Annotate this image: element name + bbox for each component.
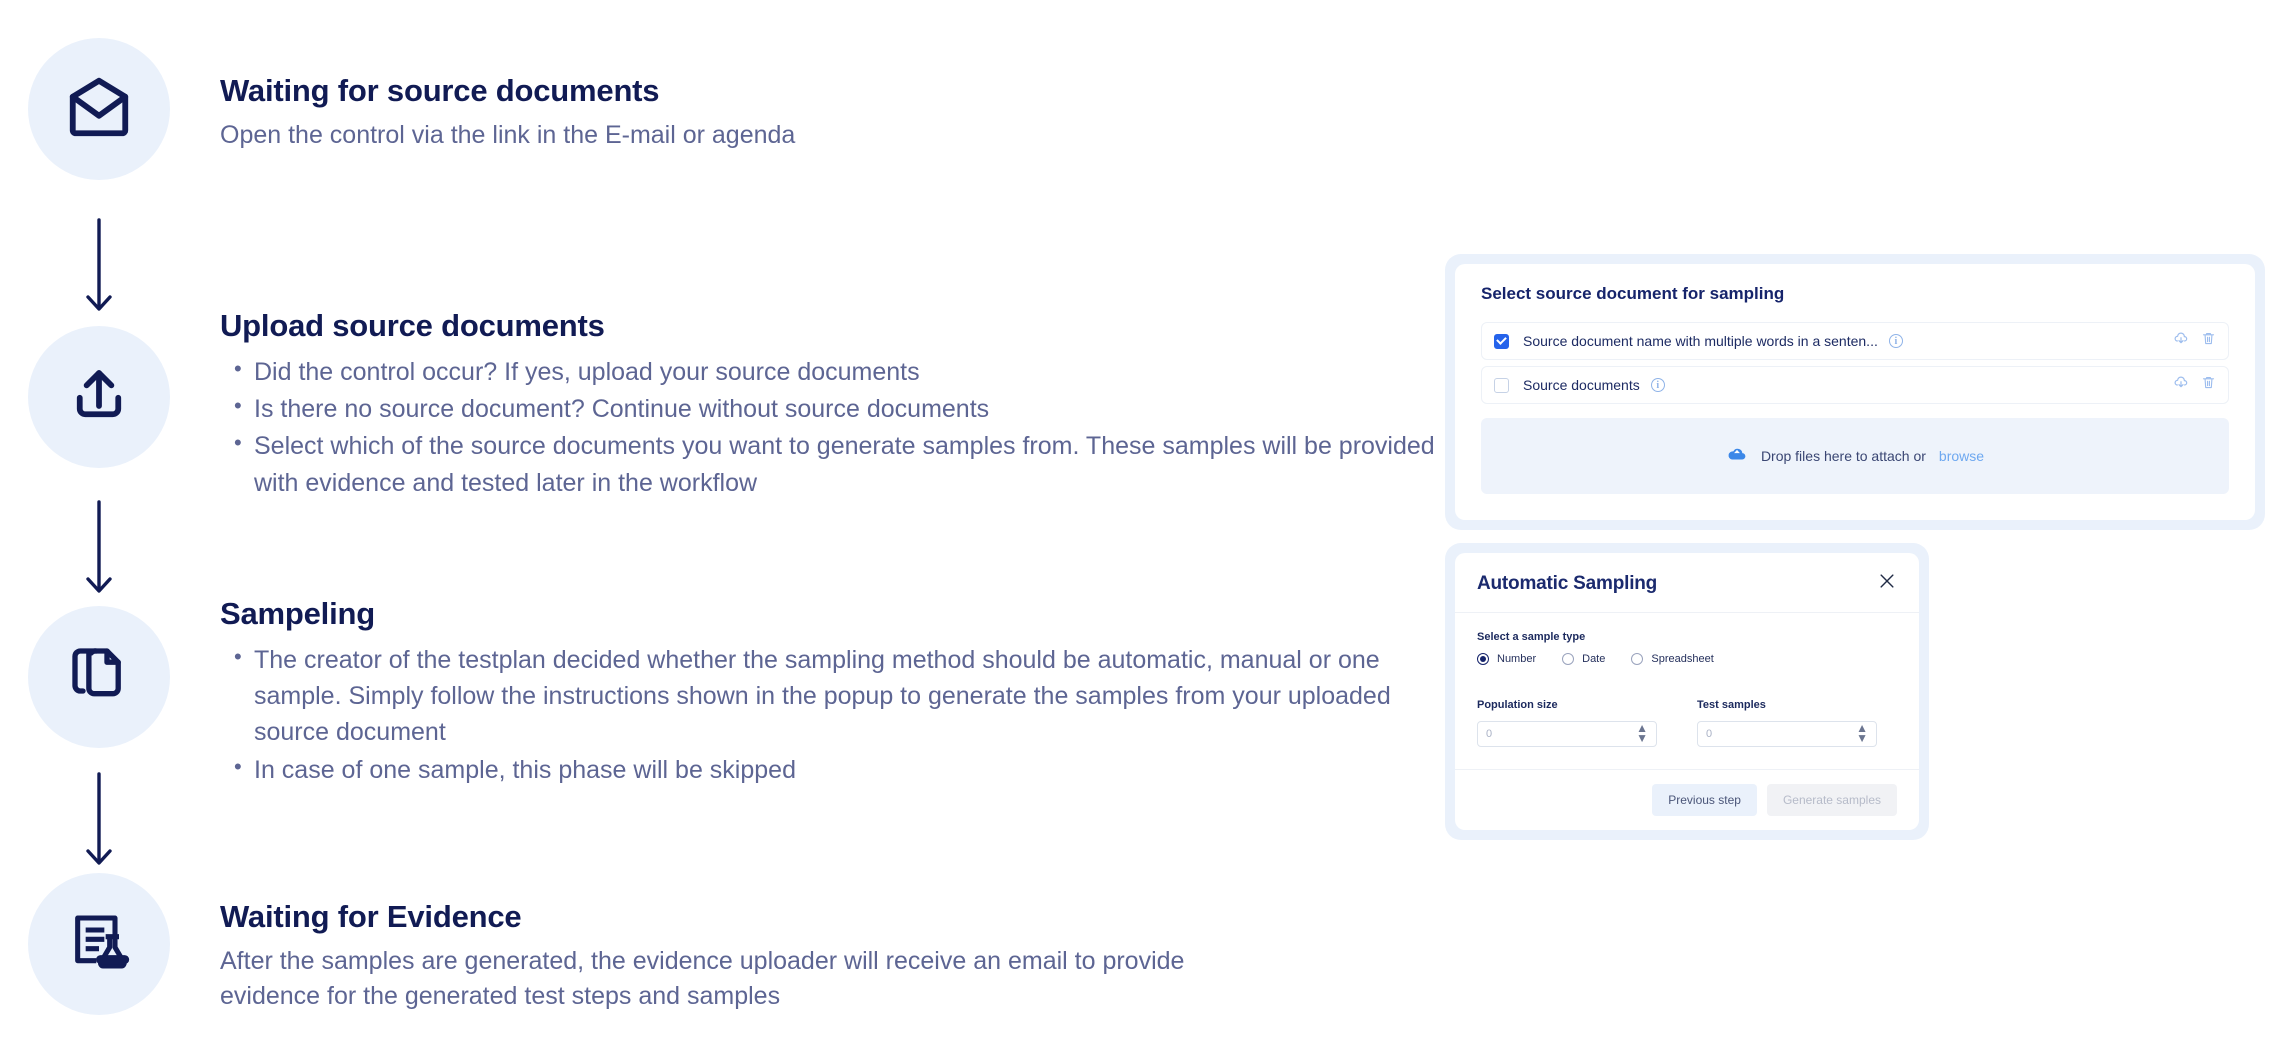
population-size-stepper[interactable]: 0 ▲▼ bbox=[1477, 721, 1657, 747]
card-outer-frame: Select source document for sampling Sour… bbox=[1445, 254, 2265, 530]
document-name: Source documents bbox=[1523, 377, 1640, 393]
info-icon[interactable]: i bbox=[1889, 334, 1903, 348]
cloud-upload-icon bbox=[1726, 443, 1748, 470]
step-3-body: Sampeling The creator of the testplan de… bbox=[220, 595, 1440, 789]
step-2-icon-circle bbox=[28, 326, 170, 468]
list-item: Did the control occur? If yes, upload yo… bbox=[220, 354, 1440, 390]
open-envelope-icon bbox=[64, 72, 134, 147]
radio-dot-selected bbox=[1477, 653, 1489, 665]
population-size-field: Population size 0 ▲▼ bbox=[1477, 699, 1657, 747]
download-icon[interactable] bbox=[2173, 375, 2189, 396]
workflow-timeline: Waiting for source documents Open the co… bbox=[0, 0, 1440, 1054]
list-item: Is there no source document? Continue wi… bbox=[220, 391, 1440, 427]
table-row[interactable]: Source documents i bbox=[1481, 366, 2229, 404]
browse-link[interactable]: browse bbox=[1939, 448, 1984, 464]
test-samples-value: 0 bbox=[1706, 728, 1712, 740]
card-inner: Select source document for sampling Sour… bbox=[1455, 264, 2255, 520]
test-samples-label: Test samples bbox=[1697, 699, 1877, 711]
radio-label: Number bbox=[1497, 653, 1536, 665]
file-dropzone[interactable]: Drop files here to attach or browse bbox=[1481, 418, 2229, 494]
sample-type-radio-group: Number Date Spreadsheet bbox=[1477, 653, 1897, 665]
info-icon[interactable]: i bbox=[1651, 378, 1665, 392]
population-size-label: Population size bbox=[1477, 699, 1657, 711]
step-1-icon-circle bbox=[28, 38, 170, 180]
dialog-body: Select a sample type Number Date Spre bbox=[1455, 613, 1919, 770]
dialog-outer-frame: Automatic Sampling Select a sample type … bbox=[1445, 543, 1929, 840]
delete-icon[interactable] bbox=[2201, 375, 2216, 395]
row-checkbox-unchecked[interactable] bbox=[1494, 378, 1509, 393]
step-3-icon-circle bbox=[28, 606, 170, 748]
row-checkbox-checked[interactable] bbox=[1494, 334, 1509, 349]
step-3-title: Sampeling bbox=[220, 595, 1440, 634]
dropzone-text: Drop files here to attach or bbox=[1761, 448, 1926, 464]
step-2-bullet-list: Did the control occur? If yes, upload yo… bbox=[220, 354, 1440, 501]
dialog-header: Automatic Sampling bbox=[1455, 553, 1919, 613]
list-item: Select which of the source documents you… bbox=[220, 428, 1440, 501]
step-1-subtitle: Open the control via the link in the E-m… bbox=[220, 118, 795, 154]
connector-arrow-1 bbox=[82, 218, 116, 314]
stepper-arrows-icon[interactable]: ▲▼ bbox=[1636, 724, 1648, 743]
radio-dot bbox=[1631, 653, 1643, 665]
row-actions bbox=[2173, 375, 2216, 396]
document-flask-icon bbox=[67, 910, 131, 979]
connector-arrow-2 bbox=[82, 500, 116, 596]
radio-option-date[interactable]: Date bbox=[1562, 653, 1605, 665]
connector-arrow-3 bbox=[82, 772, 116, 868]
automatic-sampling-dialog: Automatic Sampling Select a sample type … bbox=[1445, 543, 1929, 840]
step-4-body: Waiting for Evidence After the samples a… bbox=[220, 898, 1280, 1015]
row-actions bbox=[2173, 331, 2216, 352]
infographic-page: Waiting for source documents Open the co… bbox=[0, 0, 2290, 1054]
previous-step-button[interactable]: Previous step bbox=[1652, 784, 1757, 816]
step-1-title: Waiting for source documents bbox=[220, 72, 795, 111]
list-item: In case of one sample, this phase will b… bbox=[220, 752, 1440, 788]
table-row[interactable]: Source document name with multiple words… bbox=[1481, 322, 2229, 360]
test-samples-field: Test samples 0 ▲▼ bbox=[1697, 699, 1877, 747]
dialog-inner: Automatic Sampling Select a sample type … bbox=[1455, 553, 1919, 830]
delete-icon[interactable] bbox=[2201, 331, 2216, 351]
step-4-icon-circle bbox=[28, 873, 170, 1015]
upload-icon bbox=[66, 362, 132, 433]
documents-copy-icon bbox=[67, 643, 131, 712]
radio-option-spreadsheet[interactable]: Spreadsheet bbox=[1631, 653, 1713, 665]
step-3-bullet-list: The creator of the testplan decided whet… bbox=[220, 642, 1440, 788]
step-4-title: Waiting for Evidence bbox=[220, 898, 1280, 937]
step-1-body: Waiting for source documents Open the co… bbox=[220, 72, 795, 153]
generate-samples-button[interactable]: Generate samples bbox=[1767, 784, 1897, 816]
close-icon[interactable] bbox=[1877, 571, 1897, 596]
step-2-body: Upload source documents Did the control … bbox=[220, 307, 1440, 502]
select-source-document-card: Select source document for sampling Sour… bbox=[1445, 254, 2265, 530]
population-size-value: 0 bbox=[1486, 728, 1492, 740]
radio-label: Date bbox=[1582, 653, 1605, 665]
step-4-subtitle: After the samples are generated, the evi… bbox=[220, 944, 1280, 1015]
step-2-title: Upload source documents bbox=[220, 307, 1440, 346]
dialog-title: Automatic Sampling bbox=[1477, 573, 1657, 595]
dialog-footer: Previous step Generate samples bbox=[1455, 770, 1919, 830]
radio-label: Spreadsheet bbox=[1651, 653, 1713, 665]
radio-dot bbox=[1562, 653, 1574, 665]
radio-option-number[interactable]: Number bbox=[1477, 653, 1536, 665]
list-item: The creator of the testplan decided whet… bbox=[220, 642, 1440, 751]
sample-type-label: Select a sample type bbox=[1477, 631, 1897, 643]
stepper-arrows-icon[interactable]: ▲▼ bbox=[1856, 724, 1868, 743]
test-samples-stepper[interactable]: 0 ▲▼ bbox=[1697, 721, 1877, 747]
card-heading: Select source document for sampling bbox=[1481, 284, 2229, 304]
document-name: Source document name with multiple words… bbox=[1523, 333, 1878, 349]
numeric-fields: Population size 0 ▲▼ Test samples 0 ▲▼ bbox=[1477, 699, 1897, 747]
download-icon[interactable] bbox=[2173, 331, 2189, 352]
